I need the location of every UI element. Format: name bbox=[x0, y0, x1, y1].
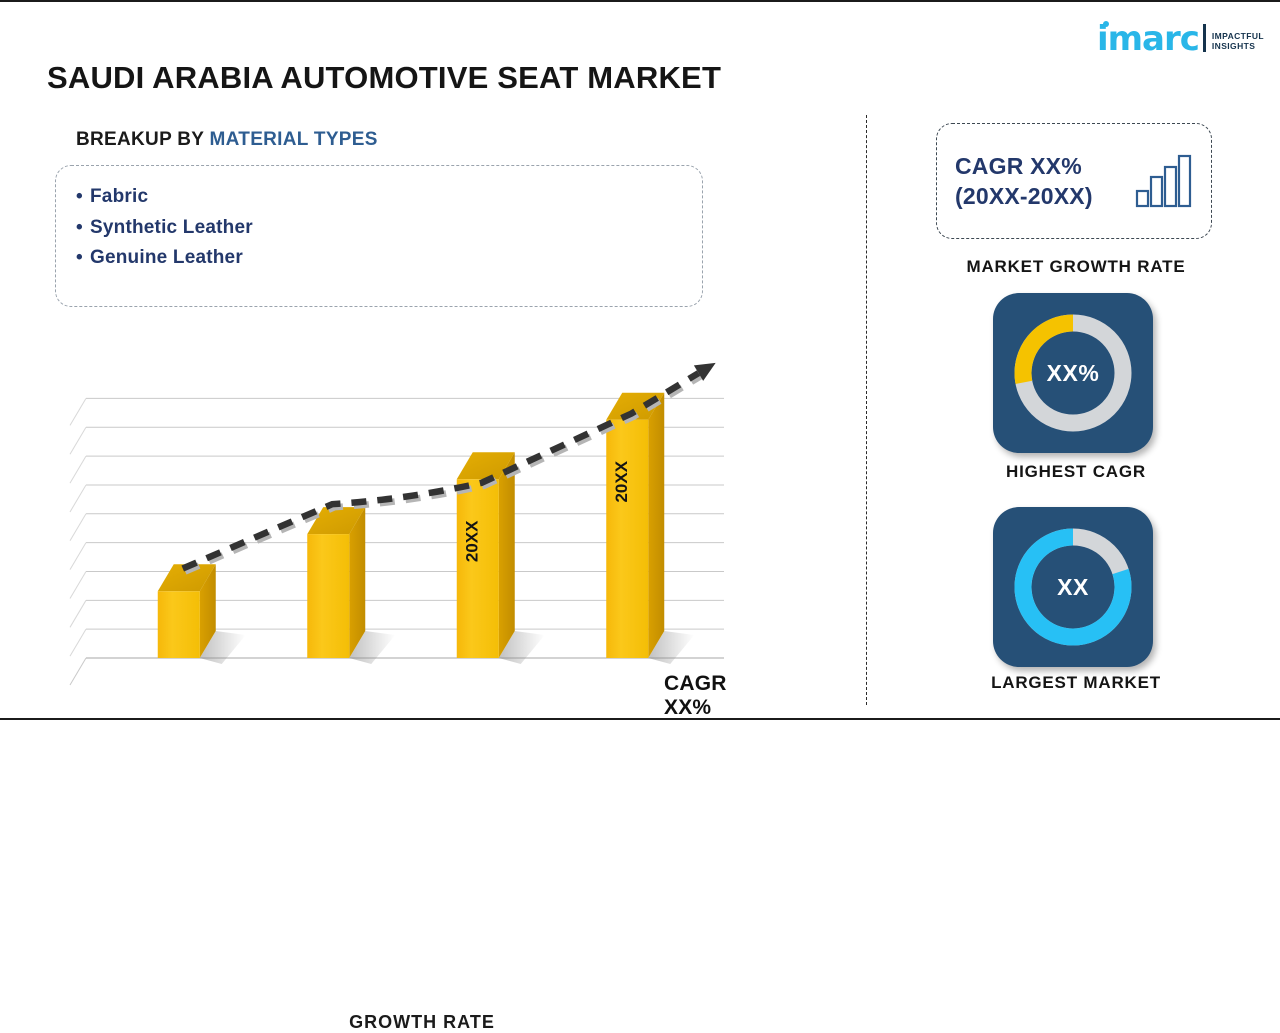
list-item-label: Synthetic Leather bbox=[90, 217, 253, 238]
bullet-icon: • bbox=[76, 213, 90, 244]
list-item: •Genuine Leather bbox=[76, 243, 702, 274]
chart-canvas: 20XX20XX bbox=[52, 332, 752, 704]
breakup-heading: BREAKUP BY MATERIAL TYPES bbox=[76, 129, 378, 151]
list-item: •Synthetic Leather bbox=[76, 213, 702, 244]
bullet-icon: • bbox=[76, 182, 90, 213]
bar-value-label: 20XX bbox=[463, 520, 482, 562]
list-item-label: Fabric bbox=[90, 186, 148, 207]
bar-front-face bbox=[606, 420, 648, 658]
market-growth-caption: MARKET GROWTH RATE bbox=[926, 257, 1226, 277]
market-growth-box: CAGR XX% (20XX-20XX) bbox=[936, 123, 1212, 239]
list-item: •Fabric bbox=[76, 182, 702, 213]
bar-value-label: 20XX bbox=[612, 460, 631, 502]
kpi-value-largest-market: XX bbox=[993, 507, 1153, 667]
bar-front-face bbox=[158, 591, 200, 658]
chart-x-axis-label: GROWTH RATE bbox=[52, 1012, 792, 1033]
page-title: SAUDI ARABIA AUTOMOTIVE SEAT MARKET bbox=[47, 60, 721, 96]
breakup-accent: MATERIAL TYPES bbox=[210, 129, 378, 150]
bar-side-face bbox=[499, 452, 515, 658]
logo-tagline-line2: INSIGHTS bbox=[1212, 41, 1264, 51]
logo-tagline: IMPACTFUL INSIGHTS bbox=[1212, 31, 1264, 51]
kpi-card-largest-market: XX bbox=[993, 507, 1153, 667]
market-growth-line1: CAGR XX% bbox=[955, 151, 1093, 181]
bar-front-face bbox=[307, 534, 349, 658]
kpi-caption-highest-cagr: HIGHEST CAGR bbox=[926, 462, 1226, 482]
chart-baseline bbox=[70, 658, 724, 685]
market-growth-text: CAGR XX% (20XX-20XX) bbox=[955, 151, 1093, 211]
chart-cagr-label: CAGR XX% bbox=[664, 672, 752, 720]
imarc-logo: imarc IMPACTFUL INSIGHTS bbox=[1097, 14, 1264, 54]
segment-list-box: •Fabric •Synthetic Leather •Genuine Leat… bbox=[55, 165, 703, 307]
bullet-icon: • bbox=[76, 243, 90, 274]
logo-tagline-line1: IMPACTFUL bbox=[1212, 31, 1264, 41]
growth-bar-chart: 20XX20XX CAGR XX% GROWTH RATE bbox=[52, 332, 752, 704]
infographic-page: imarc IMPACTFUL INSIGHTS SAUDI ARABIA AU… bbox=[0, 0, 1280, 720]
bar-chart-icon bbox=[1135, 153, 1197, 209]
kpi-card-highest-cagr: XX% bbox=[993, 293, 1153, 453]
breakup-prefix: BREAKUP BY bbox=[76, 129, 204, 150]
kpi-value-highest-cagr: XX% bbox=[993, 293, 1153, 453]
logo-dot-icon bbox=[1103, 21, 1109, 27]
kpi-caption-largest-market: LARGEST MARKET bbox=[926, 673, 1226, 693]
bar-side-face bbox=[648, 393, 664, 658]
panel-divider bbox=[866, 115, 867, 705]
logo-divider bbox=[1203, 24, 1206, 52]
market-growth-line2: (20XX-20XX) bbox=[955, 181, 1093, 211]
list-item-label: Genuine Leather bbox=[90, 247, 243, 268]
logo-wordmark: imarc bbox=[1097, 24, 1199, 54]
chart-bars: 20XX20XX bbox=[158, 393, 695, 664]
bar-front-face bbox=[457, 479, 499, 658]
